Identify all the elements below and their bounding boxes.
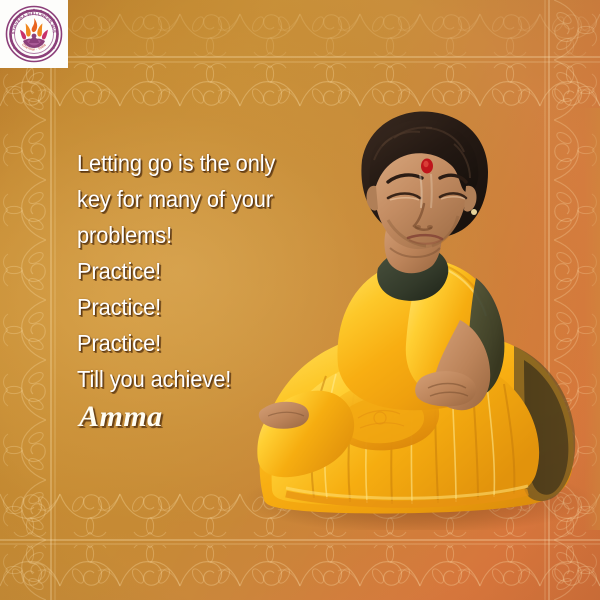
poster-canvas: SWASTHVEDA WELLNESS MISSION Chennai · In…	[0, 0, 600, 600]
quote-line: Practice!	[77, 325, 353, 361]
quote-text-block: Letting go is the only key for many of y…	[77, 145, 367, 397]
quote-line: Till you achieve!	[77, 361, 353, 397]
quote-line: problems!	[77, 217, 353, 253]
quote-line: Practice!	[77, 253, 353, 289]
swasthveda-wellness-mission-logo[interactable]: SWASTHVEDA WELLNESS MISSION Chennai · In…	[0, 0, 68, 68]
quote-line: Letting go is the only	[77, 145, 353, 181]
quote-line: key for many of your	[77, 181, 353, 217]
quote-line: Practice!	[77, 289, 353, 325]
author-signature: Amma	[79, 400, 163, 434]
